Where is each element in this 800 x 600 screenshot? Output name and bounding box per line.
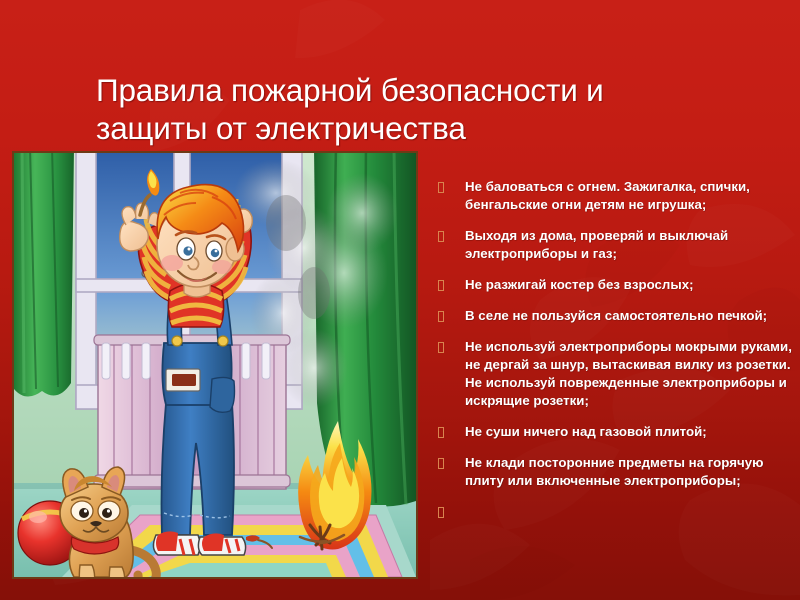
list-item: Не разжигай костер без взрослых; [432,276,794,294]
list-item: Не клади посторонние предметы на горячую… [432,454,794,490]
bullet-marker-icon [438,342,444,353]
illustration-image [12,151,418,579]
list-item-label: В селе не пользуйся самостоятельно печко… [465,308,767,323]
illustration-canvas [14,153,416,577]
bullet-marker-icon [438,427,444,438]
list-item-label: Не клади посторонние предметы на горячую… [465,455,763,488]
bullet-marker-icon [438,231,444,242]
slide-title: Правила пожарной безопасности и защиты о… [96,71,756,147]
list-item: Не используй электроприборы мокрыми рука… [432,338,794,410]
list-item-label: Выходя из дома, проверяй и выключай элек… [465,228,728,261]
list-item [432,503,794,519]
presentation-slide: Правила пожарной безопасности и защиты о… [0,0,800,600]
list-item-label: Не суши ничего над газовой плитой; [465,424,707,439]
list-item: В селе не пользуйся самостоятельно печко… [432,307,794,325]
list-item-label: Не разжигай костер без взрослых; [465,277,694,292]
bullet-marker-icon [438,182,444,193]
bullet-marker-icon [438,311,444,322]
bullet-marker-icon [438,507,444,518]
list-item: Не баловаться с огнем. Зажигалка, спички… [432,178,794,214]
list-item: Не суши ничего над газовой плитой; [432,423,794,441]
bullet-list: Не баловаться с огнем. Зажигалка, спички… [432,178,794,519]
list-item-label: Не используй электроприборы мокрыми рука… [465,339,792,408]
list-item: Выходя из дома, проверяй и выключай элек… [432,227,794,263]
bullet-marker-icon [438,458,444,469]
bullet-marker-icon [438,280,444,291]
list-item-label: Не баловаться с огнем. Зажигалка, спички… [465,179,750,212]
